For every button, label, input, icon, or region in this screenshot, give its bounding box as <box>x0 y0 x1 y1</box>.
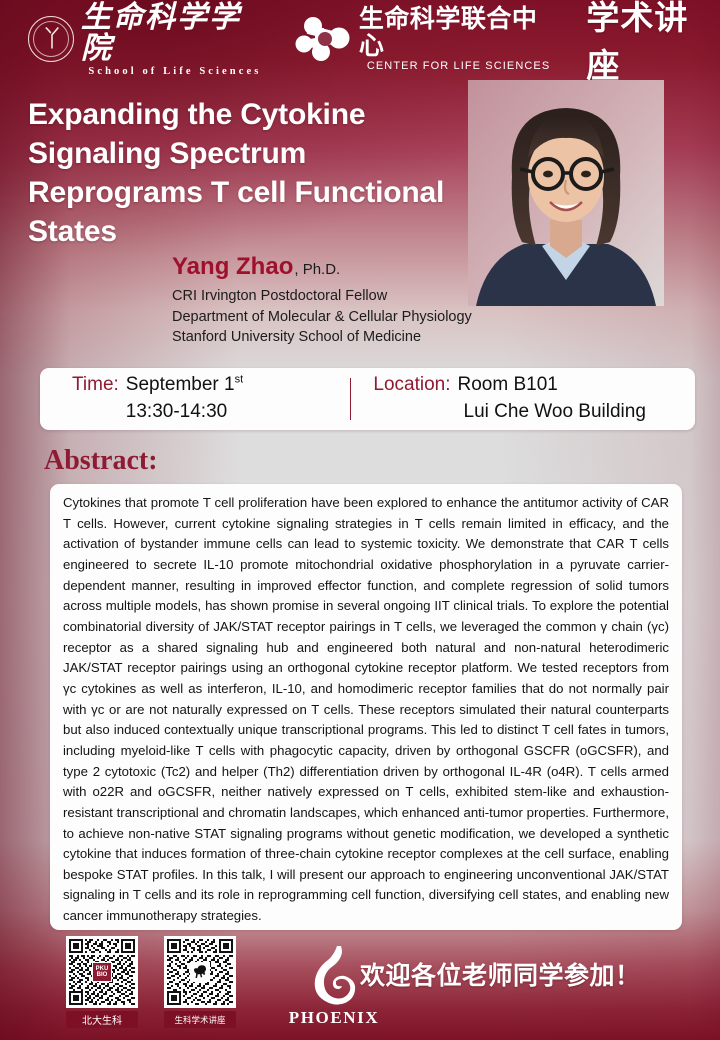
qr-center-badge-pku-bio: PKU BIO <box>92 962 112 982</box>
qr-label-lecture-series: 生科学术讲座 <box>164 1011 236 1028</box>
cls-molecule-icon <box>295 14 353 64</box>
qr-item-pku-bio[interactable]: PKU BIO 北大生科 <box>66 936 138 1028</box>
cls-logo-chinese: 生命科学联合中心 <box>359 6 558 59</box>
abstract-heading: Abstract: <box>44 445 158 477</box>
location-label: Location: <box>373 372 450 399</box>
abstract-box: Cytokines that promote T cell proliferat… <box>50 484 682 930</box>
location-values: Room B101 Lui Che Woo Building <box>458 372 646 426</box>
event-time-block: Time: September 1st 13:30-14:30 <box>40 372 350 426</box>
pku-logo-chinese: 生命科学学院 <box>81 2 269 65</box>
phoenix-wordmark: PHOENIX <box>278 1008 390 1028</box>
lecture-poster: 丫 生命科学学院 School of Life Sciences 生命科学联合中… <box>0 0 720 1040</box>
speaker-name-line: Yang Zhao , Ph.D. <box>172 253 472 281</box>
cls-wordmark: 生命科学联合中心 CENTER FOR LIFE SCIENCES <box>359 6 558 72</box>
pku-logo-english: School of Life Sciences <box>81 66 269 77</box>
cls-logo-english: CENTER FOR LIFE SCIENCES <box>359 60 558 72</box>
center-for-life-sciences-logo: 生命科学联合中心 CENTER FOR LIFE SCIENCES <box>295 6 558 72</box>
speaker-name: Yang Zhao <box>172 253 293 281</box>
speaker-affiliation-line: Stanford University School of Medicine <box>172 327 472 348</box>
qr-code-lecture-series[interactable] <box>164 936 236 1008</box>
speaker-info: Yang Zhao , Ph.D. CRI Irvington Postdoct… <box>172 253 472 348</box>
speaker-affiliation-line: CRI Irvington Postdoctoral Fellow <box>172 286 472 307</box>
speaker-portrait-illustration <box>468 80 664 306</box>
event-info-card: Time: September 1st 13:30-14:30 Location… <box>40 368 695 430</box>
pku-school-of-life-sciences-logo: 丫 生命科学学院 School of Life Sciences <box>28 2 269 77</box>
speaker-portrait-photo <box>468 80 664 306</box>
speaker-degree: , Ph.D. <box>294 261 340 278</box>
event-building: Lui Che Woo Building <box>458 399 646 426</box>
event-location-block: Location: Room B101 Lui Che Woo Building <box>351 372 646 426</box>
lecture-title: Expanding the Cytokine Signaling Spectru… <box>28 95 458 251</box>
qr-label-pku-bio: 北大生科 <box>66 1011 138 1028</box>
pku-seal-icon: 丫 <box>28 16 74 62</box>
time-label: Time: <box>72 372 119 399</box>
speaker-affiliations: CRI Irvington Postdoctoral Fellow Depart… <box>172 286 472 348</box>
welcome-message: 欢迎各位老师同学参加！ <box>360 956 641 992</box>
qr-center-text: PKU BIO <box>93 966 111 979</box>
qr-code-pku-bio[interactable]: PKU BIO <box>66 936 138 1008</box>
speaker-affiliation-line: Department of Molecular & Cellular Physi… <box>172 307 472 328</box>
dinosaur-icon <box>191 963 209 981</box>
pku-seal-glyph: 丫 <box>42 27 59 51</box>
phoenix-flame-icon <box>304 945 364 1007</box>
qr-item-lecture-series[interactable]: 生科学术讲座 <box>164 936 236 1028</box>
poster-header: 丫 生命科学学院 School of Life Sciences 生命科学联合中… <box>0 0 720 78</box>
qr-center-badge-lecture-series <box>190 962 210 982</box>
abstract-body-text: Cytokines that promote T cell proliferat… <box>63 493 669 927</box>
pku-wordmark: 生命科学学院 School of Life Sciences <box>81 2 269 77</box>
event-date-text: September 1 <box>126 374 235 395</box>
academic-lecture-banner: 学术讲座 <box>586 0 720 87</box>
time-values: September 1st 13:30-14:30 <box>126 372 277 426</box>
qr-code-group: PKU BIO 北大生科 <box>66 936 236 1028</box>
poster-footer: PKU BIO 北大生科 <box>0 928 720 1040</box>
event-time-range: 13:30-14:30 <box>126 399 277 426</box>
event-room: Room B101 <box>458 372 646 399</box>
event-date: September 1st <box>126 374 243 395</box>
event-date-ordinal: st <box>235 374 244 386</box>
